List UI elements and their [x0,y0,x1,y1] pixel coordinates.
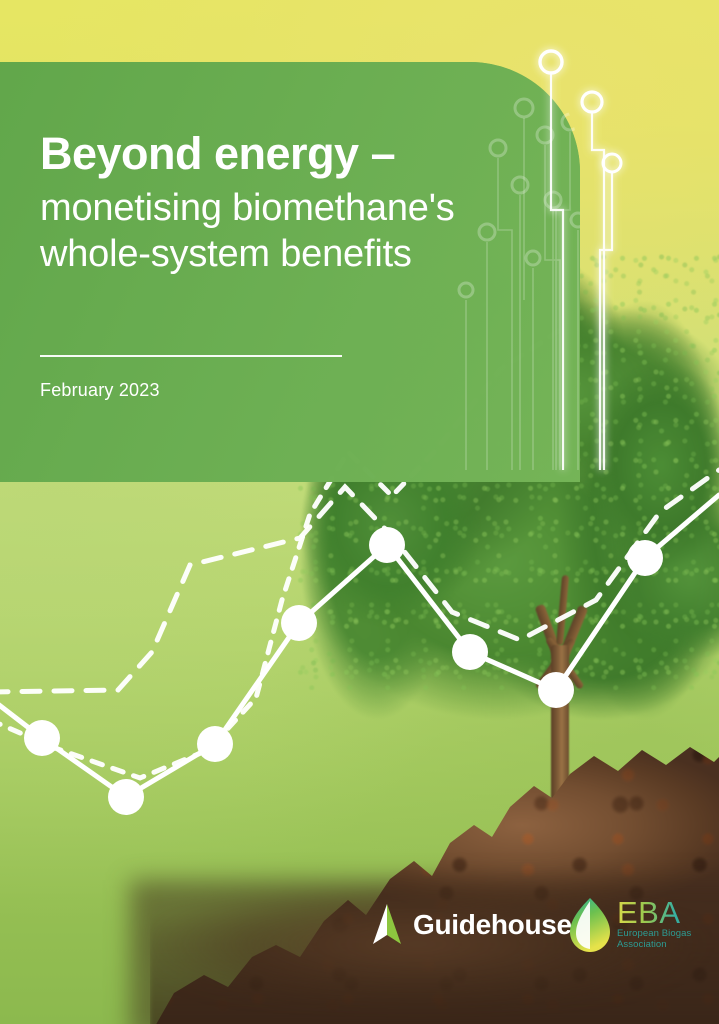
eba-tagline-line2: Association [617,940,691,951]
guidehouse-wordmark: Guidehouse [413,911,572,939]
eba-acronym: EBA [617,899,691,928]
eba-logo: EBA European Biogas Association [568,890,710,960]
page-title: Beyond energy – [40,130,560,179]
eba-text-block: EBA European Biogas Association [617,899,691,951]
eba-leaf-icon [568,896,612,954]
page-subtitle-line1: monetising biomethane's [40,185,560,231]
guidehouse-arrow-icon [370,904,404,946]
eba-tagline-line1: European Biogas [617,929,691,940]
guidehouse-logo: Guidehouse [370,903,572,947]
title-divider [40,355,342,357]
publication-date: February 2023 [40,380,160,401]
title-block: Beyond energy – monetising biomethane's … [40,130,560,277]
document-cover: Beyond energy – monetising biomethane's … [0,0,719,1024]
page-subtitle-line2: whole-system benefits [40,231,560,277]
